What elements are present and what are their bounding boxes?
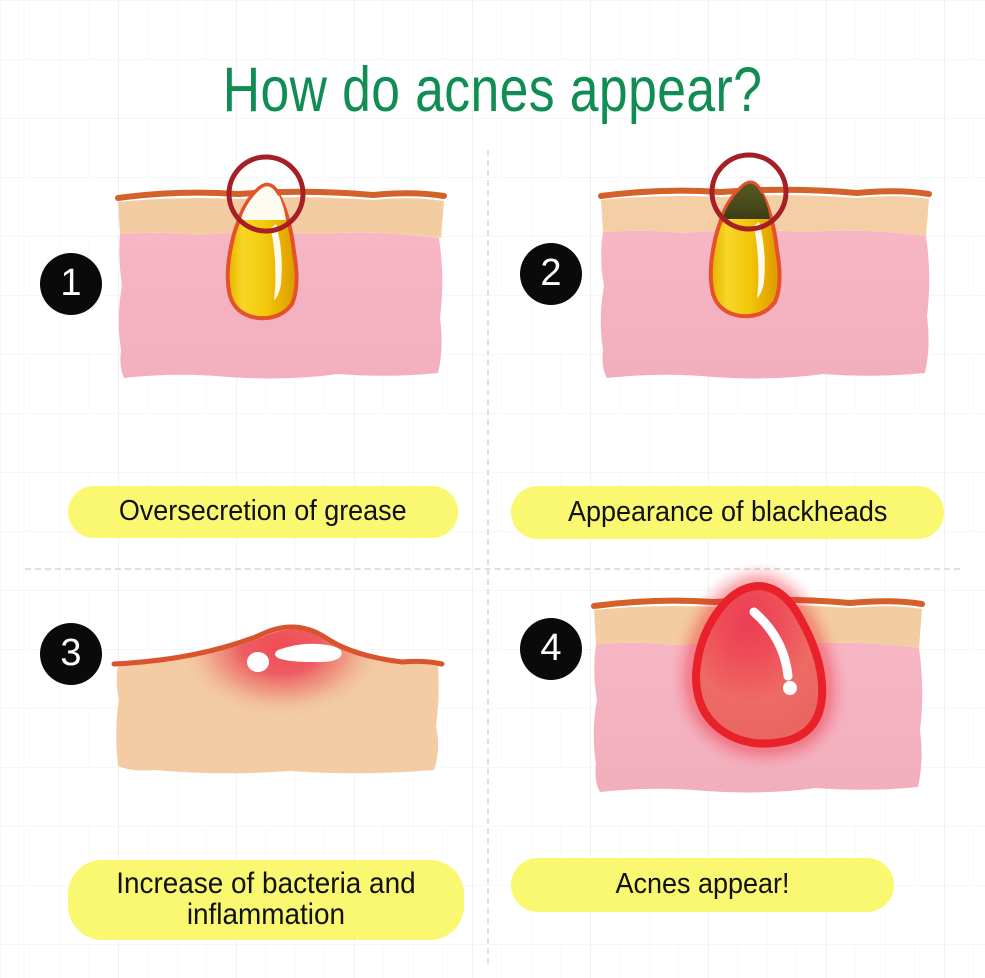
step-number-label: 2	[540, 254, 561, 292]
caption-label-2: Appearance of blackheads	[568, 498, 887, 528]
caption-pill-4: Acnes appear!	[511, 858, 894, 912]
infographic-page: How do acnes appear? 1	[0, 0, 985, 978]
panel-step-4: 4	[489, 570, 985, 970]
caption-label-3: Increase of bacteria and inflammation	[116, 869, 415, 930]
panel-step-1: 1	[0, 150, 487, 568]
step-badge-1: 1	[40, 253, 102, 315]
caption-label-1: Oversecretion of grease	[119, 497, 407, 527]
panel-step-3: 3	[0, 570, 487, 970]
step-number-label: 4	[540, 629, 561, 667]
caption-pill-1: Oversecretion of grease	[68, 486, 458, 538]
page-title: How do acnes appear?	[89, 57, 897, 123]
caption-label-4: Acnes appear!	[616, 870, 790, 900]
step-badge-4: 4	[520, 618, 582, 680]
skin-surface-line	[601, 190, 929, 196]
step-badge-3: 3	[40, 623, 102, 685]
step-badge-2: 2	[520, 243, 582, 305]
inflammation-glow	[185, 598, 395, 742]
caption-pill-2: Appearance of blackheads	[511, 486, 944, 539]
panel-step-2: 2	[489, 150, 985, 568]
skin-cross-section-blackhead-illustration	[589, 164, 944, 446]
white-highlight-dot	[783, 681, 797, 695]
skin-bump-inflamed-illustration	[100, 588, 450, 838]
skin-cross-section-pimple-illustration	[584, 580, 939, 850]
skin-cross-section-sebum-illustration	[108, 168, 453, 448]
step-number-label: 1	[60, 264, 81, 302]
step-number-label: 3	[60, 634, 81, 672]
white-highlight-dot	[247, 652, 269, 672]
caption-pill-3: Increase of bacteria and inflammation	[68, 860, 464, 940]
